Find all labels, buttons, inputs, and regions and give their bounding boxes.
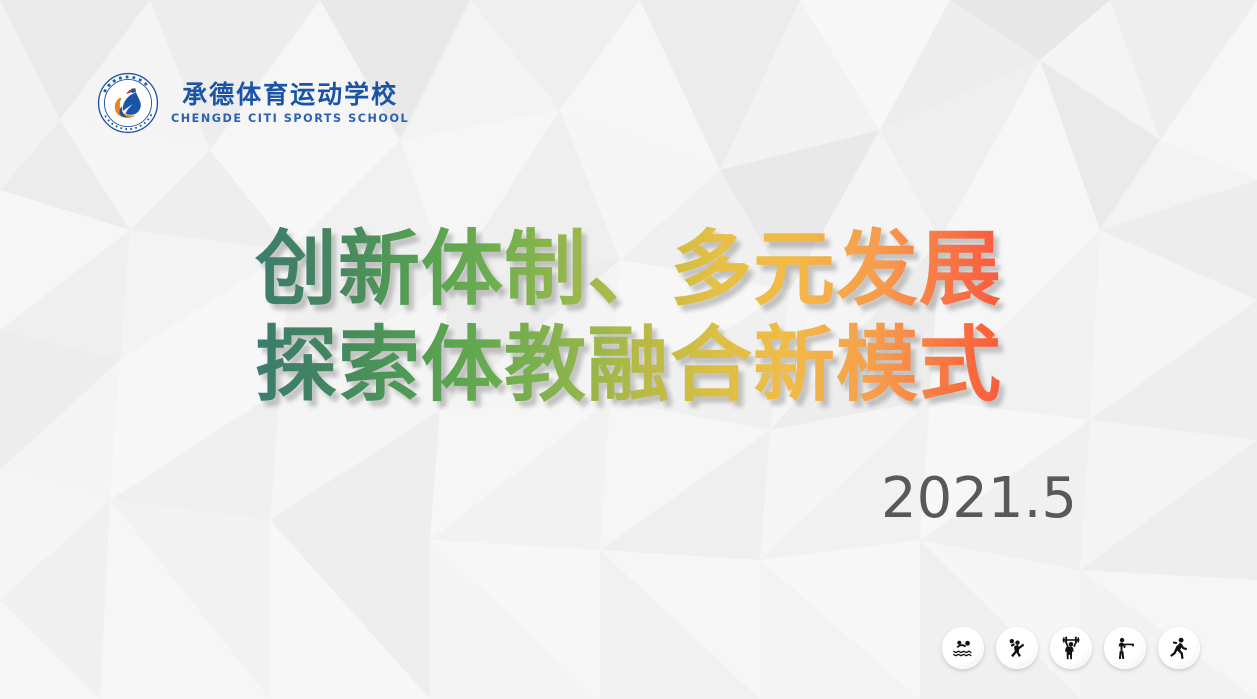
school-logo-lockup: ​ [97,72,409,134]
running-icon[interactable] [1158,627,1200,669]
volleyball-icon[interactable] [996,627,1038,669]
title-line-2-text: 探索体教融合新模式 [255,318,1002,413]
slide-date: 2021.5 [881,468,1077,530]
title-slide: ​ [0,0,1257,699]
chengde-sports-school-emblem: ​ [97,72,159,134]
title-line-2: 探索体教融合新模式 探索体教融合新模式 [0,318,1257,414]
weightlifting-icon[interactable] [1050,627,1092,669]
school-name-cn: 承德体育运动学校 [182,82,398,108]
sport-icon-row [942,627,1200,669]
water-polo-icon[interactable] [942,627,984,669]
slide-title-block: 创新体制、多元发展 创新体制、多元发展 探索体教融合新模式 探索体教融合新模式 [0,222,1257,414]
school-name-block: 承德体育运动学校 CHENGDE CITI SPORTS SCHOOL [171,82,409,125]
title-line-1-text: 创新体制、多元发展 [255,222,1002,317]
shooting-icon[interactable] [1104,627,1146,669]
school-name-en: CHENGDE CITI SPORTS SCHOOL [171,112,409,126]
title-line-1: 创新体制、多元发展 创新体制、多元发展 [0,222,1257,318]
